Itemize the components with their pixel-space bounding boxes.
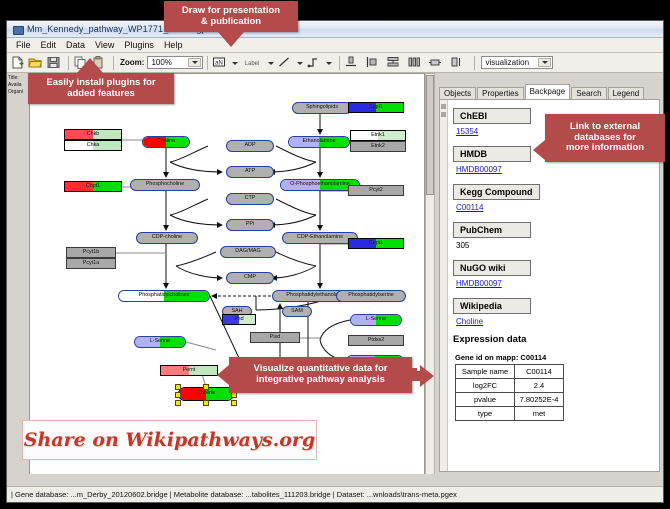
connector-icon[interactable] — [306, 55, 321, 70]
callout-draw-text: Draw for presentation & publication — [176, 3, 286, 31]
save-icon[interactable] — [46, 55, 61, 70]
callout-plugins-line2: added features — [46, 89, 155, 100]
pubchem-heading: PubChem — [453, 222, 531, 238]
canvas-scrollbar[interactable] — [425, 73, 435, 476]
node-etnk2[interactable]: Etnk2 — [350, 141, 406, 152]
toolbar-separator-5 — [474, 56, 475, 70]
stack-vertical-icon[interactable] — [386, 55, 401, 70]
node-pcyt1a[interactable]: Pcyt1a — [66, 258, 116, 269]
callout-plugins-tail — [84, 70, 94, 75]
visualization-chevron-icon[interactable] — [538, 58, 551, 67]
expression-pointer-arrow — [400, 365, 434, 387]
row-key: type — [456, 407, 515, 421]
visualization-combo[interactable]: visualization — [481, 56, 553, 69]
node-chpt1[interactable]: Chpt1 — [64, 181, 122, 192]
datanode-dropdown-icon[interactable] — [230, 56, 239, 70]
callout-visualize-line2: integrative pathway analysis — [254, 375, 388, 386]
node-chkb[interactable]: Chkb — [64, 129, 122, 140]
chebi-heading: ChEBI — [453, 108, 531, 124]
row-value: 7.80252E-4 — [515, 393, 564, 407]
nugo-wiki-heading: NuGO wiki — [453, 260, 531, 276]
chevron-down-icon[interactable] — [188, 58, 201, 67]
menu-file[interactable]: File — [11, 39, 36, 52]
node-ptdss2[interactable]: Ptdss2 — [348, 335, 404, 346]
node-phosphocholine[interactable]: Phosphocholine — [130, 179, 200, 191]
resize-width-icon[interactable] — [428, 55, 443, 70]
callout-links: Link to external databases for more info… — [545, 114, 665, 162]
canvas-scrollbar-thumb[interactable] — [426, 75, 434, 195]
new-file-icon[interactable] — [10, 55, 25, 70]
node-pcyt1b[interactable]: Pcyt1b — [66, 247, 116, 258]
row-key: Sample name — [456, 365, 515, 379]
node-phosphatidylcholines[interactable]: Phosphatidylcholines — [118, 290, 210, 302]
callout-links-line1: Link to external — [566, 122, 644, 133]
callout-visualize: Visualize quantitative data for integrat… — [229, 357, 412, 393]
row-key: log2FC — [456, 379, 515, 393]
hmdb-link[interactable]: HMDB00097 — [456, 165, 653, 174]
node-ctp[interactable]: CTP — [226, 193, 274, 205]
info-title-label: Title: — [8, 75, 28, 82]
svg-text:Label: Label — [245, 61, 260, 67]
node-choline-top[interactable]: Choline — [142, 136, 190, 148]
row-value: 2.4 — [515, 379, 564, 393]
callout-links-text: Link to external databases for more info… — [560, 119, 650, 158]
node-pemt[interactable]: Pemt — [160, 365, 218, 376]
selection-handle-w[interactable] — [175, 392, 181, 398]
selection-handle-sw[interactable] — [175, 400, 181, 406]
scroll-up-icon[interactable] — [441, 104, 446, 109]
table-row: type met — [456, 407, 564, 421]
side-panel-tabs: Objects Properties Backpage Search Legen… — [439, 85, 660, 99]
datanode-icon[interactable]: aN — [212, 55, 227, 70]
callout-visualize-text: Visualize quantitative data for integrat… — [248, 361, 394, 389]
backpage-scrollbar[interactable] — [440, 100, 448, 471]
menubar: File Edit Data View Plugins Help — [7, 38, 663, 53]
share-banner-text: Share on Wikipathways.org — [24, 429, 315, 451]
pubchem-value: 305 — [456, 241, 653, 250]
nugo-wiki-link[interactable]: HMDB00097 — [456, 279, 653, 288]
connector-dropdown-icon[interactable] — [324, 56, 333, 70]
callout-links-line3: more information — [566, 143, 644, 154]
callout-visualize-tail — [225, 370, 233, 380]
share-banner: Share on Wikipathways.org — [22, 420, 317, 460]
callout-plugins: Easily install plugins for added feature… — [28, 73, 174, 104]
info-avail-label: Availa — [8, 82, 28, 89]
open-folder-icon[interactable] — [28, 55, 43, 70]
callout-draw-line2: & publication — [182, 17, 280, 28]
statusbar-text: | Gene database: ...m_Derby_20120602.bri… — [11, 490, 457, 499]
node-pcyt2[interactable]: Pcyt2 — [348, 185, 404, 196]
callout-draw-tail — [225, 31, 235, 35]
node-cept1[interactable]: Cept1 — [348, 238, 404, 249]
callout-links-tail — [541, 146, 547, 155]
line-icon[interactable] — [277, 55, 292, 70]
distribute-horizontal-icon[interactable] — [407, 55, 422, 70]
node-atp[interactable]: ATP — [226, 166, 274, 178]
menu-data[interactable]: Data — [61, 39, 90, 52]
svg-text:aN: aN — [216, 61, 224, 67]
label-dropdown-icon[interactable] — [266, 56, 275, 70]
kegg-compound-heading: Kegg Compound — [453, 184, 540, 200]
kegg-compound-link[interactable]: C00114 — [456, 203, 653, 212]
node-l-serine-left[interactable]: L-Serine — [134, 336, 186, 348]
label-icon[interactable]: Label — [241, 55, 263, 70]
node-chka[interactable]: Chka — [64, 140, 122, 151]
node-etnk1[interactable]: Etnk1 — [350, 130, 406, 141]
statusbar-gap — [7, 474, 663, 486]
zoom-value: 100% — [151, 58, 171, 67]
align-bottom-icon[interactable] — [344, 55, 359, 70]
node-cmp[interactable]: CMP — [226, 272, 274, 284]
zoom-combo[interactable]: 100% — [147, 56, 203, 69]
callout-draw-line1: Draw for presentation — [182, 6, 280, 17]
node-psd[interactable]: Psd — [222, 314, 256, 325]
row-value: met — [515, 407, 564, 421]
visualization-value: visualization — [485, 58, 529, 67]
zoom-label: Zoom: — [120, 58, 144, 67]
table-row: pvalue 7.80252E-4 — [456, 393, 564, 407]
node-l-serine-right[interactable]: L-Serine — [350, 314, 402, 326]
pathvisio-icon — [12, 24, 23, 35]
node-cdp-choline[interactable]: CDP-choline — [136, 232, 198, 244]
wikipedia-link[interactable]: Choline — [456, 317, 653, 326]
pathway-info-strip: Title: Availa Organi — [7, 73, 29, 476]
menu-plugins[interactable]: Plugins — [119, 39, 159, 52]
node-sphingolipids[interactable]: Sphingolipids — [292, 102, 352, 114]
callout-plugins-line1: Easily install plugins for — [46, 78, 155, 89]
window-titlebar: Mm_Kennedy_pathway_WP1771_45176.gpml — [7, 21, 663, 38]
node-sam[interactable]: SAM — [282, 306, 312, 317]
line-dropdown-icon[interactable] — [295, 56, 304, 70]
hmdb-heading: HMDB — [453, 146, 531, 162]
node-pisd[interactable]: Pisd — [250, 332, 300, 343]
toolbar-separator-4 — [339, 56, 340, 70]
expression-data-title: Expression data — [453, 334, 653, 345]
node-ppi[interactable]: PPi — [226, 219, 274, 231]
menu-help[interactable]: Help — [159, 39, 188, 52]
callout-draw: Draw for presentation & publication — [164, 1, 298, 32]
wikipedia-heading: Wikipedia — [453, 298, 531, 314]
node-phosphatidylserine[interactable]: Phosphatidylserine — [336, 290, 406, 302]
selection-handle-se[interactable] — [231, 400, 237, 406]
table-row: log2FC 2.4 — [456, 379, 564, 393]
screenshot-root: Mm_Kennedy_pathway_WP1771_45176.gpml Fil… — [0, 0, 670, 509]
toolbar-separator-2 — [113, 56, 114, 70]
node-sgpl1[interactable]: Sgpl1 — [348, 102, 404, 113]
selection-handle-s[interactable] — [203, 400, 209, 406]
selection-handle-nw[interactable] — [175, 384, 181, 390]
toolbar-separator-3 — [207, 56, 208, 70]
node-dag-mag[interactable]: DAG/MAG — [220, 246, 276, 258]
menu-view[interactable]: View — [90, 39, 119, 52]
node-cdp-ethanolamine[interactable]: CDP-Ethanolamine — [282, 232, 358, 244]
pathway-drawing: Sphingolipids Ethanolamine O-Phosphoetha… — [30, 74, 424, 475]
row-value: C00114 — [515, 365, 564, 379]
pathway-canvas[interactable]: Sphingolipids Ethanolamine O-Phosphoetha… — [29, 73, 425, 476]
toolbar: Zoom: 100% aN Label — [7, 53, 663, 73]
scroll-thumb[interactable] — [441, 112, 446, 117]
selection-handle-n[interactable] — [203, 384, 209, 390]
menu-edit[interactable]: Edit — [36, 39, 62, 52]
gene-id-on-mapp: Gene id on mapp: C00114 — [455, 353, 653, 362]
toolbar-separator — [68, 56, 69, 70]
tab-backpage[interactable]: Backpage — [525, 84, 571, 99]
callout-plugins-text: Easily install plugins for added feature… — [40, 75, 161, 103]
align-left-icon[interactable] — [365, 55, 380, 70]
resize-height-icon[interactable] — [449, 55, 464, 70]
row-key: pvalue — [456, 393, 515, 407]
statusbar: | Gene database: ...m_Derby_20120602.bri… — [7, 486, 663, 502]
node-ethanolamine-top[interactable]: Ethanolamine — [288, 136, 350, 148]
table-row: Sample name C00114 — [456, 365, 564, 379]
node-adp[interactable]: ADP — [226, 140, 274, 152]
info-organism-label: Organi — [8, 89, 28, 96]
expression-data-table: Sample name C00114 log2FC 2.4 pvalue 7.8… — [455, 364, 564, 421]
